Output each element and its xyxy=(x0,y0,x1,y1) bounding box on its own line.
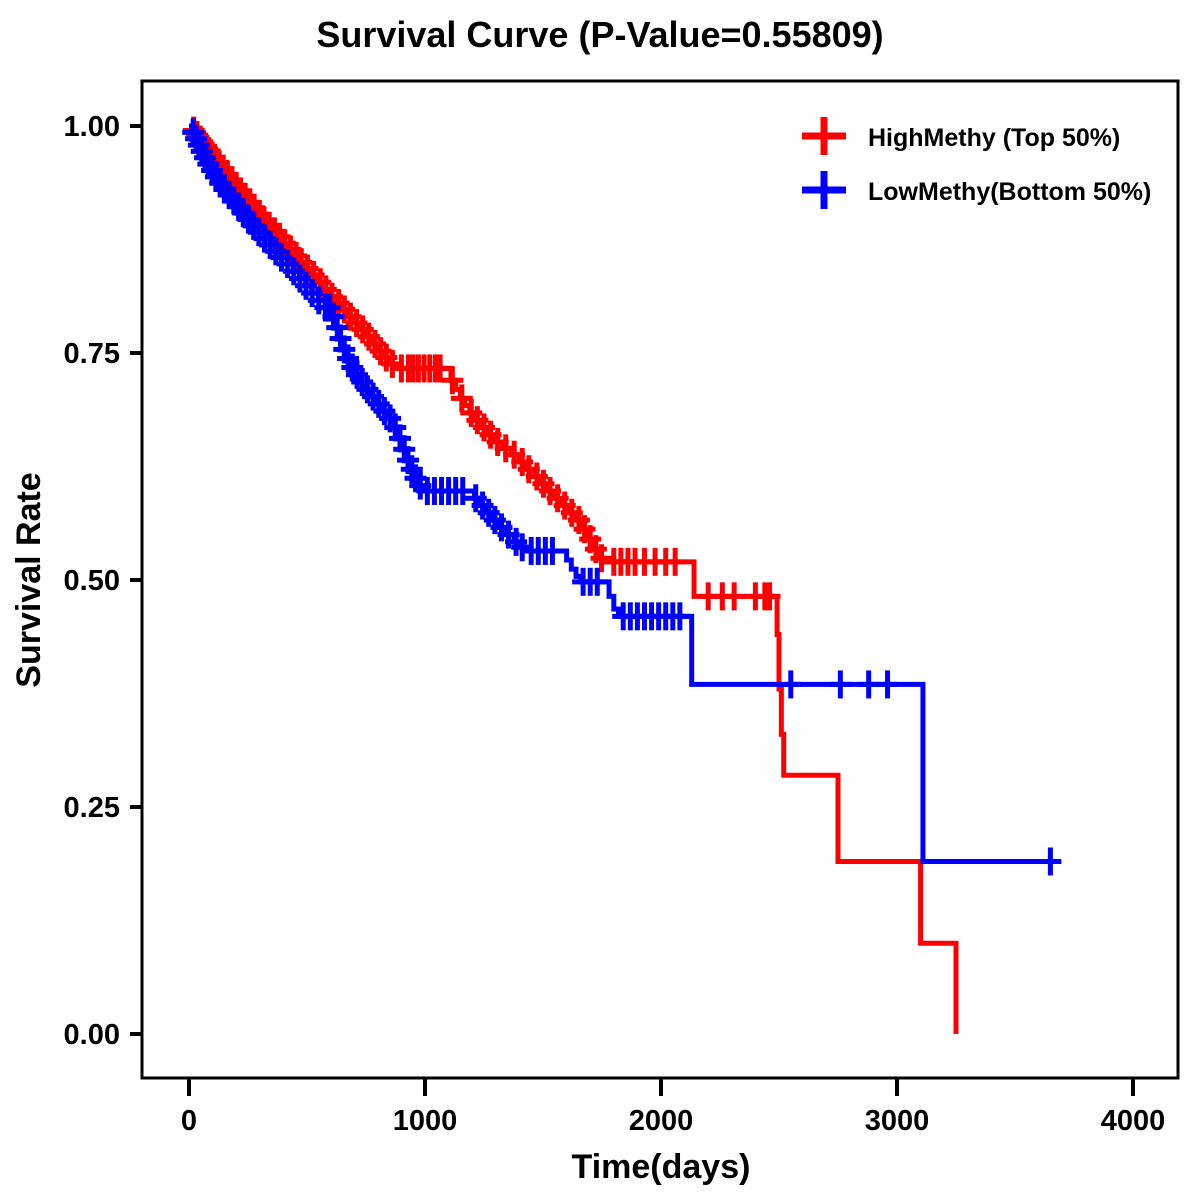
x-axis-title: Time(days) xyxy=(572,1148,751,1186)
x-tick-label-3000: 3000 xyxy=(865,1105,930,1137)
legend-label-lowmethy: LowMethy(Bottom 50%) xyxy=(868,178,1151,206)
x-tick-label-0: 0 xyxy=(181,1105,197,1137)
x-tick-label-2000: 2000 xyxy=(629,1105,694,1137)
x-axis-ticks xyxy=(189,1078,1133,1096)
y-tick-label-0: 0.00 xyxy=(64,1019,120,1051)
legend-label-highmethy: HighMethy (Top 50%) xyxy=(868,124,1120,152)
y-axis-title: Survival Rate xyxy=(10,472,48,687)
x-tick-label-4000: 4000 xyxy=(1101,1105,1166,1137)
y-tick-label-075: 0.75 xyxy=(64,338,120,370)
y-tick-label-025: 0.25 xyxy=(64,792,120,824)
y-axis-ticks xyxy=(130,126,142,1034)
chart-canvas: 1.00 0.75 0.50 0.25 0.00 0 1000 2000 300… xyxy=(0,0,1200,1200)
x-tick-label-1000: 1000 xyxy=(393,1105,458,1137)
plot-frame xyxy=(142,81,1178,1078)
survival-plot-figure: Survival Curve (P-Value=0.55809) 1.00 0.… xyxy=(0,0,1200,1200)
y-axis-tick-labels: 1.00 0.75 0.50 0.25 0.00 xyxy=(64,111,120,1051)
x-axis-tick-labels: 0 1000 2000 3000 4000 xyxy=(181,1105,1165,1137)
y-tick-label-1: 1.00 xyxy=(64,111,120,143)
y-tick-label-050: 0.50 xyxy=(64,565,120,597)
